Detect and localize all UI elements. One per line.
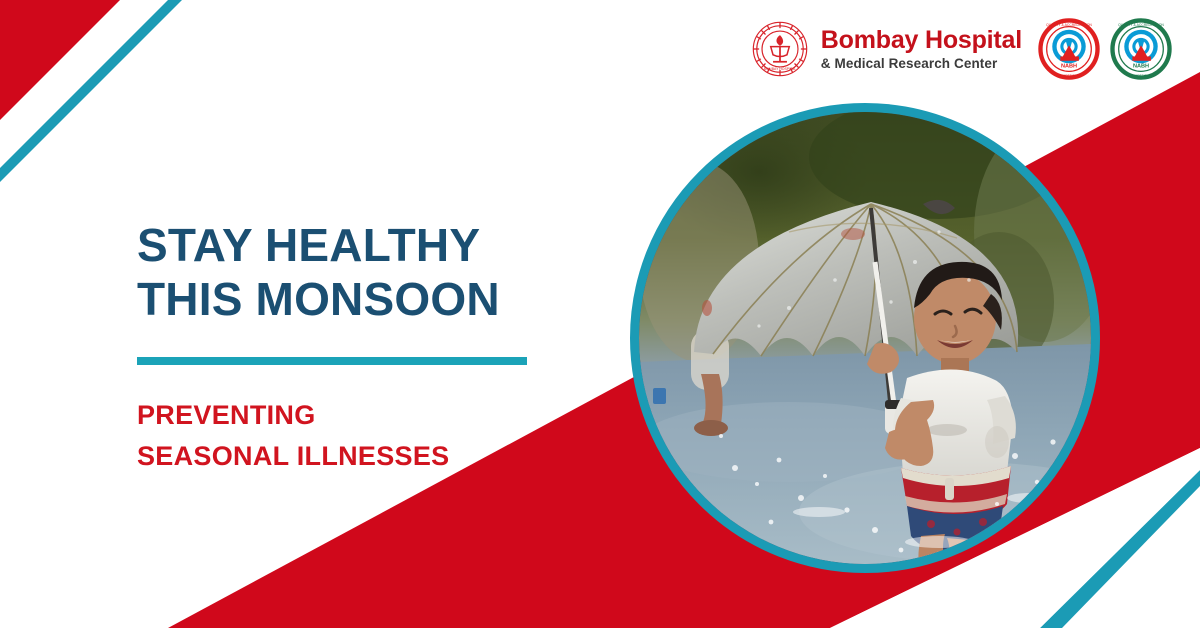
child-with-umbrella-in-rain-photo <box>639 112 1091 564</box>
svg-text:ACCREDITED: ACCREDITED <box>1059 73 1080 77</box>
top-left-teal-diagonal-stripe <box>0 0 182 182</box>
svg-text:BOMBAY HOSPITAL: BOMBAY HOSPITAL <box>764 67 796 71</box>
headline-line-2: THIS MONSOON <box>137 272 607 326</box>
copy-block: STAY HEALTHY THIS MONSOON PREVENTING SEA… <box>137 218 607 477</box>
bombay-hospital-crest-icon: BOMBAY HOSPITAL <box>751 20 809 78</box>
subline-line-2: SEASONAL ILLNESSES <box>137 436 607 477</box>
svg-text:QUALITY & ACCREDITATION: QUALITY & ACCREDITATION <box>1046 23 1092 27</box>
top-left-red-corner-triangle <box>0 0 120 120</box>
hospital-name: Bombay Hospital <box>821 28 1022 53</box>
child-with-umbrella-in-rain-illustration <box>639 112 1091 564</box>
photo-circle-frame <box>630 103 1100 573</box>
svg-text:ACCREDITED: ACCREDITED <box>1131 73 1152 77</box>
svg-text:QUALITY & ACCREDITATION: QUALITY & ACCREDITATION <box>1118 23 1164 27</box>
svg-text:NABH: NABH <box>1133 64 1149 70</box>
headline-divider-rule <box>137 357 527 365</box>
nabl-green-seal-icon: NABH QUALITY & ACCREDITATION ACCREDITED <box>1110 18 1172 80</box>
brand-lockup: BOMBAY HOSPITAL Bombay Hospital & Medica… <box>751 18 1172 80</box>
headline-line-1: STAY HEALTHY <box>137 218 607 272</box>
nabh-red-seal-icon: NABH QUALITY & ACCREDITATION ACCREDITED <box>1038 18 1100 80</box>
hospital-wordmark: Bombay Hospital & Medical Research Cente… <box>821 28 1022 71</box>
svg-text:NABH: NABH <box>1061 64 1077 70</box>
hospital-subtitle: & Medical Research Center <box>821 57 1022 71</box>
monsoon-health-banner: BOMBAY HOSPITAL Bombay Hospital & Medica… <box>0 0 1200 628</box>
subline-line-1: PREVENTING <box>137 395 607 436</box>
